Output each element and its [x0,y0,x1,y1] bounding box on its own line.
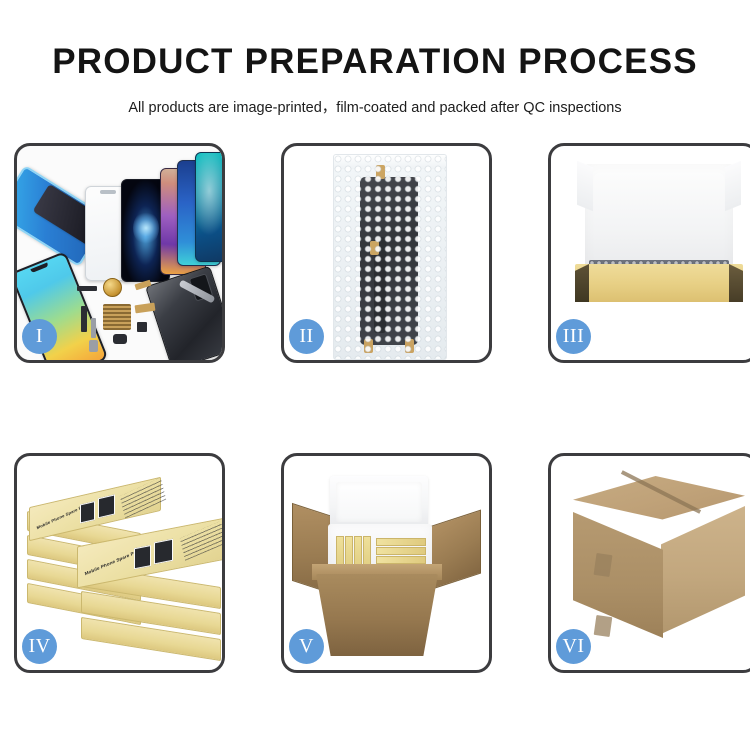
process-step-1[interactable]: I [14,143,225,363]
step-badge-4: IV [22,629,57,664]
small-part-d [91,318,96,338]
shipping-carton-open [316,574,438,656]
product-preparation-infographic: PRODUCT PREPARATION PROCESS All products… [0,0,750,750]
small-part-f [137,322,147,332]
inner-box-h2 [376,547,426,555]
carton-tape-patch-top [594,553,613,577]
process-grid: I II [14,143,737,673]
carton-side-face [661,506,745,634]
box-photo-front-a [134,545,151,569]
tape-tab-bottom-left [364,339,373,353]
teal-swirl-phone [195,152,222,262]
carton-front-face [573,512,663,638]
process-step-6[interactable]: VI [548,453,750,673]
step-badge-6: VI [556,629,591,664]
small-part-a [77,286,97,291]
step-badge-3: III [556,319,591,354]
box-side-right [729,264,743,302]
box-text-block-rear [120,477,166,518]
small-part-g [113,334,127,344]
process-step-2[interactable]: II [281,143,492,363]
gold-grid-chip [103,304,131,330]
wrapped-flex-part [360,177,418,345]
flex-cable [374,237,386,333]
tape-tab-top [376,165,385,179]
sealed-carton [573,476,745,652]
tape-tab-bottom-right [405,339,414,353]
foam-flap-right [725,161,741,211]
yellow-box-base [575,264,743,302]
process-row-1: I II [14,143,737,363]
bubble-wrap-bag [333,154,447,360]
step-badge-2: II [289,319,324,354]
inner-box-h3 [376,556,426,564]
white-foam-lid [585,164,733,272]
styrofoam-lid [330,476,428,528]
box-photo-rear-a [80,501,95,523]
foam-flap-left [577,161,593,211]
tape-tab-mid [370,241,379,255]
carton-tape-patch-bottom [594,615,613,637]
box-side-left [575,264,589,302]
page-title: PRODUCT PREPARATION PROCESS [0,44,750,79]
process-step-4[interactable]: Mobile Phone Spare Parts Mobile Phone Sp… [14,453,225,673]
box-stack: Mobile Phone Spare Parts Mobile Phone Sp… [25,470,221,662]
small-part-c [81,306,87,332]
header: PRODUCT PREPARATION PROCESS All products… [0,0,750,117]
small-part-h [89,340,98,352]
step-badge-5: V [289,629,324,664]
inner-box-h1 [376,538,426,546]
step-badge-1: I [22,319,57,354]
box-photo-front-b [154,539,173,565]
box-photo-rear-b [98,494,115,518]
process-step-5[interactable]: V [281,453,492,673]
process-row-2: Mobile Phone Spare Parts Mobile Phone Sp… [14,453,737,673]
box-text-block-front [180,521,222,561]
process-step-3[interactable]: III [548,143,750,363]
speaker-coin-part [103,278,122,297]
bag-seal [334,155,446,169]
page-subtitle: All products are image-printed，film-coat… [0,96,750,117]
